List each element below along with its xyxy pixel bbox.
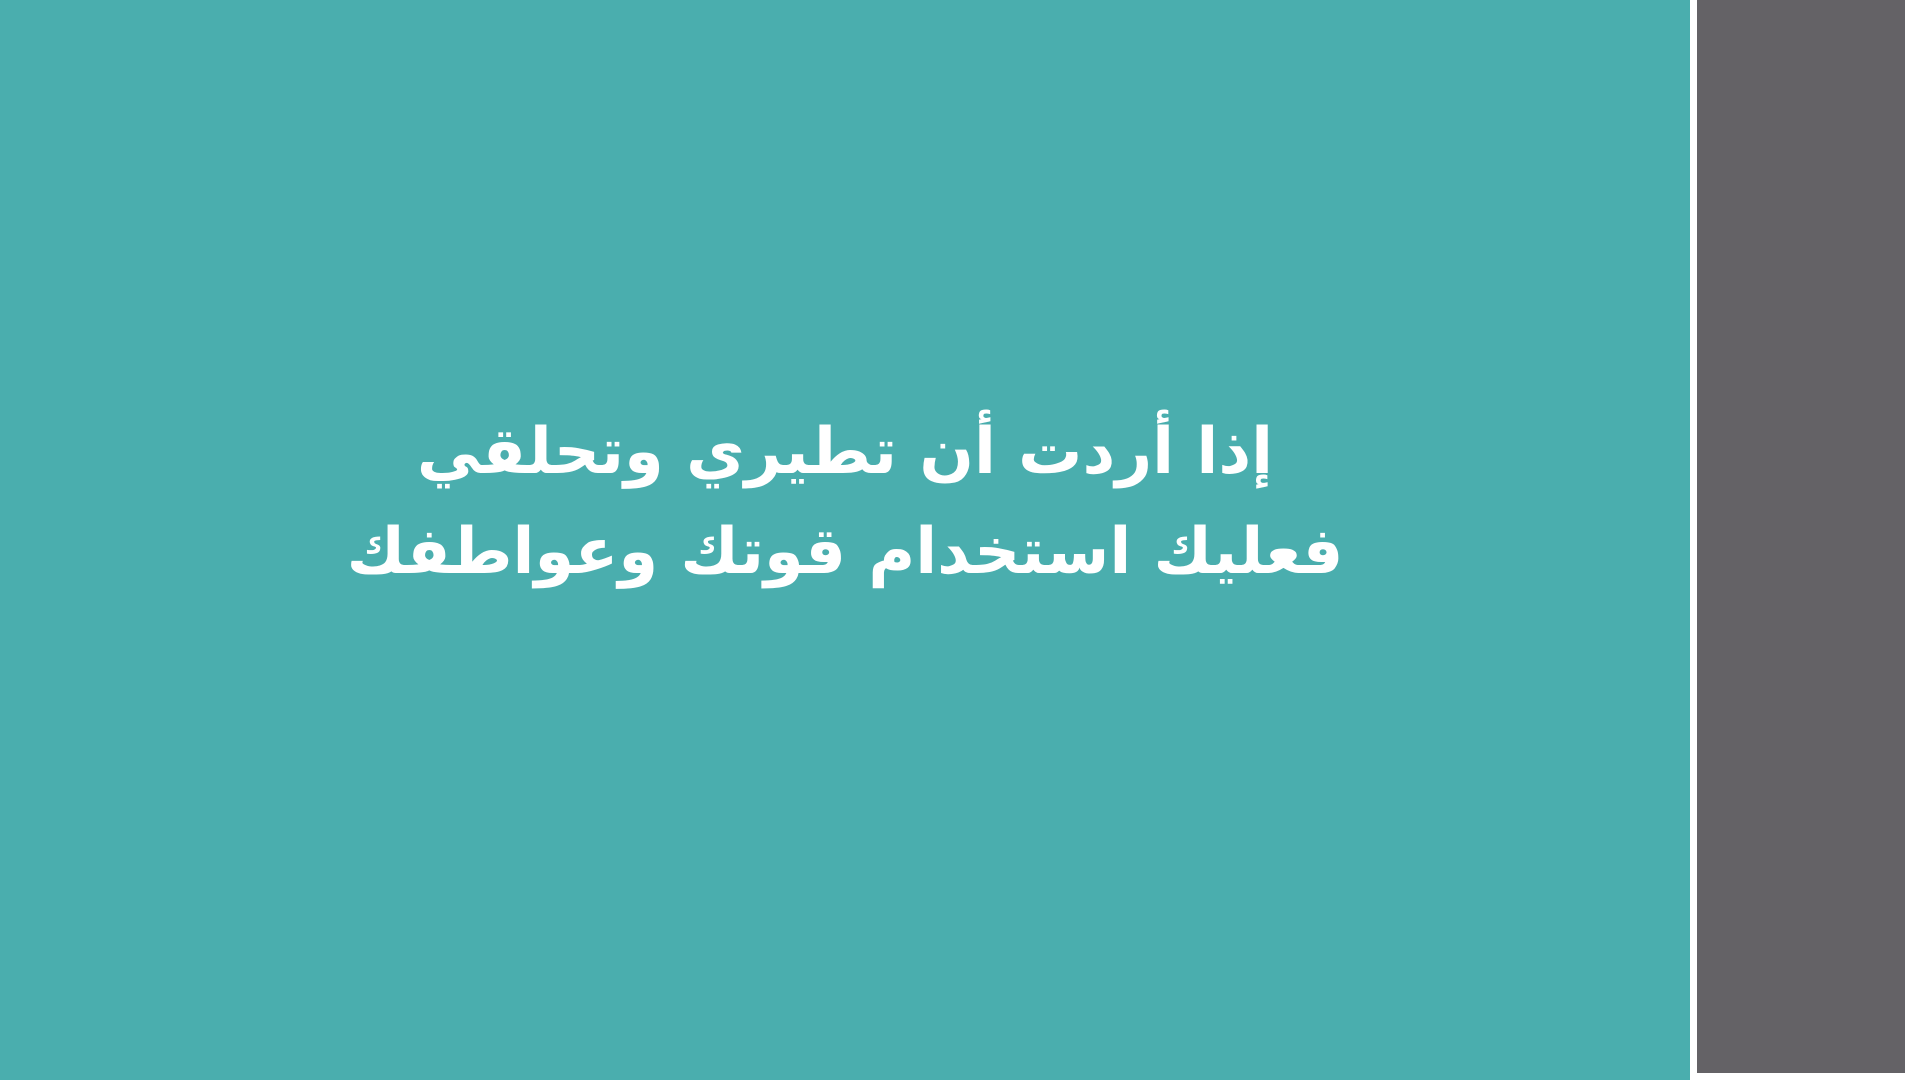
slide-right-margin <box>1905 0 1920 1080</box>
quote-text-block: إذا أردت أن تطيري وتحلقي فعليك استخدام ق… <box>145 402 1545 602</box>
panel-gutter-divider <box>1690 0 1697 1080</box>
slide-root: إذا أردت أن تطيري وتحلقي فعليك استخدام ق… <box>0 0 1920 1080</box>
slide-side-accent-panel <box>1697 0 1905 1073</box>
quote-line-2: فعليك استخدام قوتك وعواطفك <box>145 502 1545 602</box>
quote-line-1: إذا أردت أن تطيري وتحلقي <box>145 402 1545 502</box>
slide-main-panel: إذا أردت أن تطيري وتحلقي فعليك استخدام ق… <box>0 0 1690 1080</box>
